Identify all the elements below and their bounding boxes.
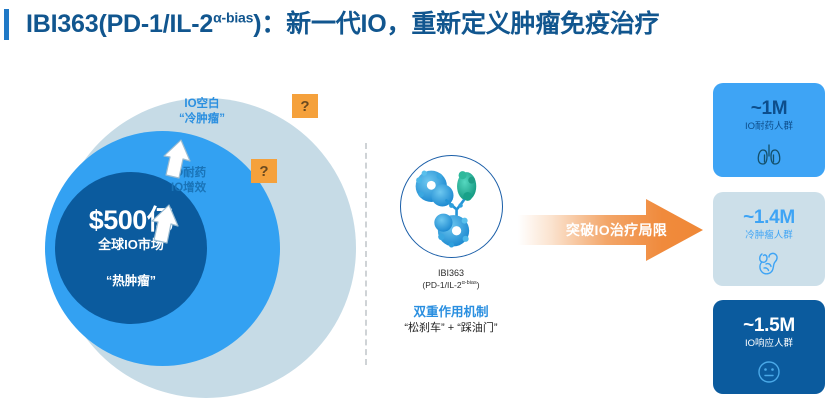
arrow-to-cold-tumor [164,140,190,178]
lungs-icon [754,140,784,170]
stat-card-io-resistant-label: IO耐药人群 [745,120,793,134]
stat-card-io-responder-value: ~1.5M [743,315,795,336]
stat-card-io-resistant[interactable]: ~1M IO耐药人群 [713,83,825,177]
title-prefix: IBI363(PD-1/IL-2 [26,10,213,38]
antibody-structure-graphic [401,156,502,257]
stat-card-io-responder-label: IO响应人群 [745,337,793,351]
stat-card-cold-tumor[interactable]: ~1.4M 冷肿瘤人群 [713,192,825,286]
title-accent-bar [4,9,9,40]
antibody-molecule-icon [400,155,503,258]
title-suffix: )：新一代IO，重新定义肿瘤免疫治疗 [253,10,659,38]
venn-callout-arrows [18,62,378,410]
stat-card-cold-tumor-label: 冷肿瘤人群 [745,229,793,243]
molecule-target-label: (PD-1/IL-2α-bias) [375,279,527,291]
stat-card-io-responder[interactable]: ~1.5M IO响应人群 [713,300,825,394]
section-divider [365,143,367,365]
molecule-target-superscript: α-bias [462,280,477,286]
slide-canvas: IBI363(PD-1/IL-2α-bias)：新一代IO，重新定义肿瘤免疫治疗… [0,0,840,412]
venn-diagram: $500亿 全球IO市场 “热肿瘤” IO空白 “冷肿瘤” IO耐药 IO增效 … [18,62,378,410]
stat-card-cold-tumor-value: ~1.4M [743,207,795,228]
face-icon [756,357,782,387]
breakthrough-arrow-shape [518,199,703,261]
molecule-panel: IBI363 (PD-1/IL-2α-bias) 双重作用机制 “松刹车” + … [375,155,527,336]
title-superscript: α-bias [213,10,253,26]
molecule-name: IBI363 [375,267,527,279]
arrow-to-io-resistance [152,205,178,243]
molecule-target-suffix: ) [477,280,480,290]
moa-detail: “松刹车” + “踩油门” [375,320,527,336]
moa-title: 双重作用机制 [375,304,527,320]
stat-card-io-resistant-value: ~1M [751,98,788,119]
breakthrough-arrow [518,197,703,263]
page-title: IBI363(PD-1/IL-2α-bias)：新一代IO，重新定义肿瘤免疫治疗 [26,8,659,40]
molecule-target-prefix: (PD-1/IL-2 [422,280,461,290]
intestine-icon [755,249,783,279]
